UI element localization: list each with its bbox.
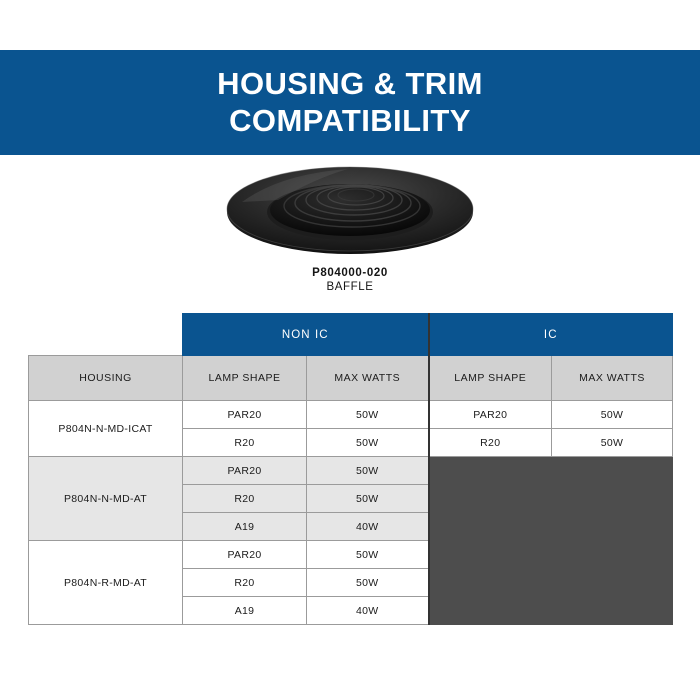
cell-non-ic-lamp-shape: PAR20 xyxy=(183,401,307,429)
column-header-housing: HOUSING xyxy=(29,356,183,401)
cell-ic-max-watts: 50W xyxy=(552,401,673,429)
group-header-blank xyxy=(29,314,183,356)
group-header-row: NON IC IC xyxy=(29,314,673,356)
group-header-non-ic: NON IC xyxy=(183,314,429,356)
cell-ic-max-watts: 50W xyxy=(552,429,673,457)
group-header-ic: IC xyxy=(429,314,673,356)
column-header-ic-max-watts: MAX WATTS xyxy=(552,356,673,401)
column-header-ic-lamp-shape: LAMP SHAPE xyxy=(429,356,552,401)
column-header-non-ic-max-watts: MAX WATTS xyxy=(307,356,429,401)
cell-non-ic-lamp-shape: R20 xyxy=(183,485,307,513)
page-title: HOUSING & TRIM COMPATIBILITY xyxy=(197,66,503,139)
ic-unavailable-block xyxy=(429,457,673,625)
page-header-banner: HOUSING & TRIM COMPATIBILITY xyxy=(0,50,700,155)
housing-label-icat: P804N-N-MD-ICAT xyxy=(29,401,183,457)
cell-non-ic-max-watts: 50W xyxy=(307,569,429,597)
cell-non-ic-max-watts: 50W xyxy=(307,401,429,429)
cell-non-ic-lamp-shape: PAR20 xyxy=(183,541,307,569)
product-type: BAFFLE xyxy=(312,280,388,294)
table-row: P804N-N-MD-AT PAR20 50W xyxy=(29,457,673,485)
cell-ic-lamp-shape: PAR20 xyxy=(429,401,552,429)
cell-non-ic-lamp-shape: R20 xyxy=(183,429,307,457)
cell-non-ic-max-watts: 50W xyxy=(307,429,429,457)
housing-label-r-md-at: P804N-R-MD-AT xyxy=(29,541,183,625)
cell-ic-lamp-shape: R20 xyxy=(429,429,552,457)
cell-non-ic-max-watts: 50W xyxy=(307,485,429,513)
column-header-row: HOUSING LAMP SHAPE MAX WATTS LAMP SHAPE … xyxy=(29,356,673,401)
product-caption: P804000-020 BAFFLE xyxy=(312,266,388,295)
housing-label-n-md-at: P804N-N-MD-AT xyxy=(29,457,183,541)
housing-trim-compatibility-table: NON IC IC HOUSING LAMP SHAPE MAX WATTS L… xyxy=(28,313,673,625)
page-title-line-1: HOUSING & TRIM xyxy=(217,66,483,103)
page-title-line-2: COMPATIBILITY xyxy=(217,103,483,140)
cell-non-ic-lamp-shape: PAR20 xyxy=(183,457,307,485)
table-body: P804N-N-MD-ICAT PAR20 50W PAR20 50W R20 … xyxy=(29,401,673,625)
table-row: P804N-N-MD-ICAT PAR20 50W PAR20 50W xyxy=(29,401,673,429)
cell-non-ic-max-watts: 50W xyxy=(307,457,429,485)
column-header-non-ic-lamp-shape: LAMP SHAPE xyxy=(183,356,307,401)
cell-non-ic-max-watts: 50W xyxy=(307,541,429,569)
cell-non-ic-lamp-shape: A19 xyxy=(183,597,307,625)
product-figure: P804000-020 BAFFLE xyxy=(0,162,700,302)
compatibility-table-container: NON IC IC HOUSING LAMP SHAPE MAX WATTS L… xyxy=(28,313,672,625)
cell-non-ic-max-watts: 40W xyxy=(307,513,429,541)
cell-non-ic-lamp-shape: A19 xyxy=(183,513,307,541)
product-code: P804000-020 xyxy=(312,266,388,280)
baffle-trim-icon xyxy=(220,162,480,262)
cell-non-ic-max-watts: 40W xyxy=(307,597,429,625)
cell-non-ic-lamp-shape: R20 xyxy=(183,569,307,597)
table-head: NON IC IC HOUSING LAMP SHAPE MAX WATTS L… xyxy=(29,314,673,401)
